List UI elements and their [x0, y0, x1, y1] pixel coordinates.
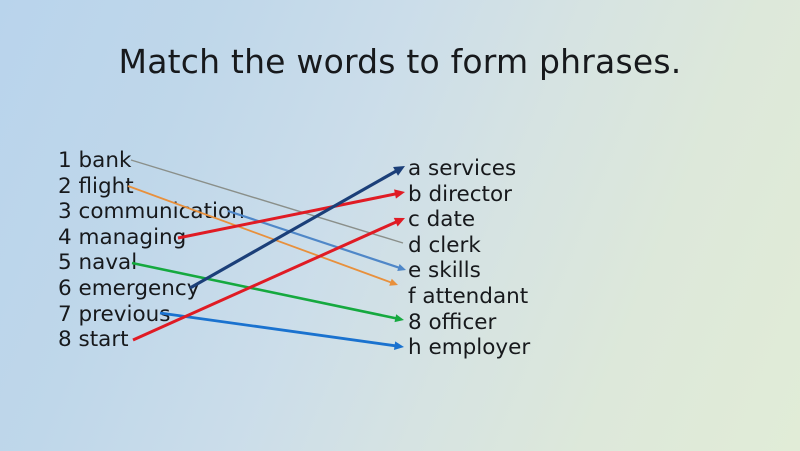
connector-previous-to-employer-arrowhead-icon — [394, 341, 404, 350]
connector-flight-to-attendant-arrowhead-icon — [389, 279, 398, 286]
connector-communication-to-skills-arrowhead-icon — [397, 264, 406, 271]
connector-layer — [0, 0, 800, 451]
connector-managing-to-director-arrowhead-icon — [394, 189, 405, 198]
connector-start-to-date — [133, 221, 399, 340]
connector-naval-to-officer-arrowhead-icon — [395, 314, 404, 322]
connector-flight-to-attendant — [128, 186, 393, 283]
connector-group — [128, 160, 406, 350]
slide-canvas: Match the words to form phrases. 1 bank … — [0, 0, 800, 451]
connector-previous-to-employer — [160, 313, 398, 346]
